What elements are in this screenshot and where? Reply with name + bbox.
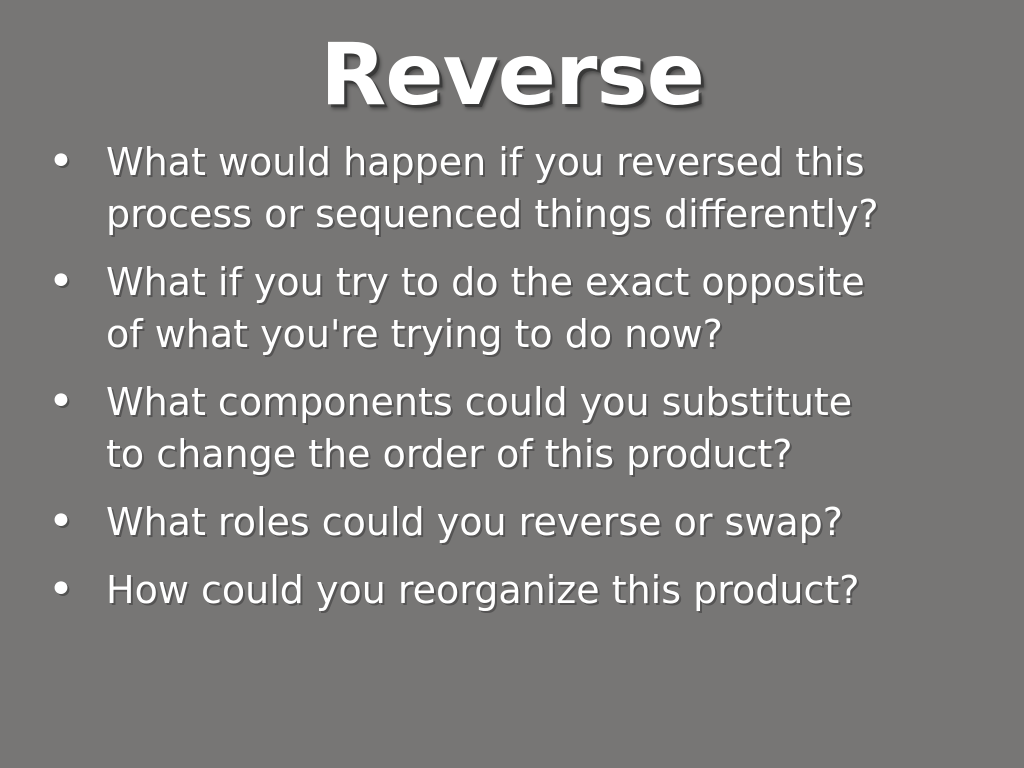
list-item-text: What if you try to do the exact opposite… [106, 256, 896, 360]
bullet-dot-icon: • [48, 256, 106, 308]
bullet-dot-icon: • [48, 136, 106, 188]
list-item-text: What roles could you reverse or swap? [106, 496, 896, 548]
list-item: • What would happen if you reversed this… [48, 136, 984, 240]
list-item-text: What components could you substitute to … [106, 376, 896, 480]
list-item: • What components could you substitute t… [48, 376, 984, 480]
list-item-text: How could you reorganize this product? [106, 564, 896, 616]
bullet-dot-icon: • [48, 496, 106, 548]
bullet-list: • What would happen if you reversed this… [0, 118, 1024, 616]
list-item: • How could you reorganize this product? [48, 564, 984, 616]
page-title: Reverse [0, 0, 1024, 118]
bullet-dot-icon: • [48, 376, 106, 428]
list-item: • What roles could you reverse or swap? [48, 496, 984, 548]
list-item: • What if you try to do the exact opposi… [48, 256, 984, 360]
list-item-text: What would happen if you reversed this p… [106, 136, 896, 240]
slide-canvas: Reverse • What would happen if you rever… [0, 0, 1024, 768]
bullet-dot-icon: • [48, 564, 106, 616]
